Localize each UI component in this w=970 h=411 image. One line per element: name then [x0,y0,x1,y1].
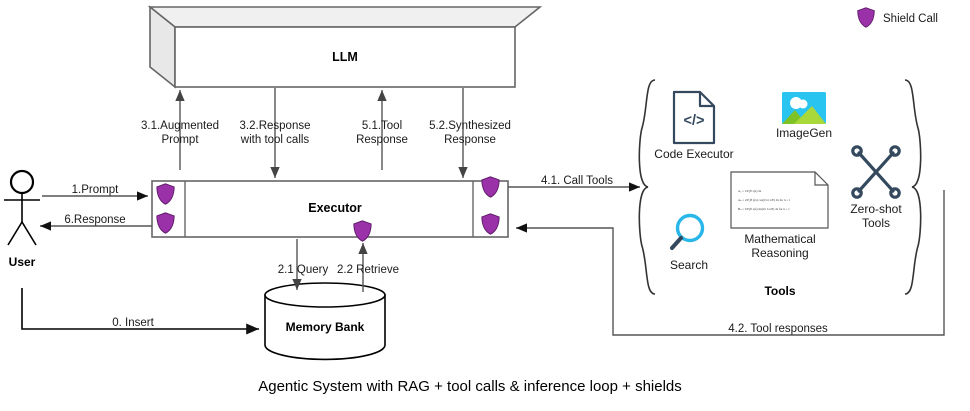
edge-response-label: 6.Response [64,214,125,226]
math-formula-0: A₀ = 1/P ∫P s(x) dx [738,189,762,193]
edge-retrieve-label: 2.2 Retrieve [337,264,399,276]
tool-search-label: Search [670,258,708,272]
tool-imagegen-label: ImageGen [776,126,832,140]
edge-synthesized-response-l1: 5.2.Synthesized [429,120,511,132]
tools-brace-left [639,80,655,294]
tool-math-label-l1: Mathematical [744,232,815,246]
tool-zero-shot[interactable]: Zero-shot Tools [850,147,902,230]
tool-mathematical-reasoning[interactable]: A₀ = 1/P ∫P s(x) dx Aₙ = 2/P ∫P s(x) cos… [731,172,828,260]
user-head [11,171,33,193]
agentic-system-diagram: LLM Executor User Memory Bank 1.Prompt 6… [0,0,970,411]
edge-prompt-label: 1.Prompt [72,184,119,196]
crossed-wrenches-icon [853,147,899,197]
edge-insert-label: 0. Insert [112,317,154,329]
diagram-canvas: LLM Executor User Memory Bank 1.Prompt 6… [0,0,970,411]
tool-code-executor-label: Code Executor [654,147,733,161]
tool-zero-shot-label-l1: Zero-shot [850,202,902,216]
diagram-caption: Agentic System with RAG + tool calls & i… [258,378,682,395]
math-formula-2: Bₙ = 2/P ∫P s(x) sin(2π n x/P) dx for n … [738,207,790,211]
edge-query-label: 2.1 Query [278,264,329,276]
tools-group-label: Tools [764,284,795,298]
user-label: User [9,255,36,269]
code-glyph: </> [684,113,705,129]
edge-synthesized-response-l2: Response [444,134,496,146]
tool-zero-shot-label-l2: Tools [862,216,890,230]
edge-tool-responses-label: 4.2. Tool responses [728,323,828,335]
edge-response-tool-calls-l2: with tool calls [240,134,310,146]
memory-bank-top [265,283,385,307]
shield-icon-executor-memory [354,221,371,241]
llm-box-top [150,7,540,27]
legend-shield-call: Shield Call [858,8,938,28]
legend-label: Shield Call [883,13,938,25]
user-actor[interactable]: User [4,171,40,269]
edge-call-tools-label: 4.1. Call Tools [541,175,613,187]
tool-math-label-l2: Reasoning [751,246,808,260]
image-icon-cloud-base [791,103,804,107]
magnifier-handle [672,238,681,248]
edge-tool-response-l1: 5.1.Tool [362,120,402,132]
tool-search[interactable]: Search [670,216,708,273]
user-leg-right [22,222,36,245]
edge-response-tool-calls-l1: 3.2.Response [240,120,311,132]
shield-icon-legend [858,8,875,28]
tools-brace-right [905,80,921,294]
memory-bank-node[interactable]: Memory Bank [265,283,385,359]
tool-imagegen[interactable]: ImageGen [776,92,832,140]
user-leg-left [8,222,22,245]
edge-augmented-prompt-l2: Prompt [161,134,199,146]
executor-label: Executor [308,201,362,215]
executor-node[interactable]: Executor [152,181,508,237]
llm-label: LLM [332,50,358,64]
edge-augmented-prompt-l1: 3.1.Augmented [141,120,219,132]
math-formula-1: Aₙ = 2/P ∫P s(x) cos(2π n x/P) dx for n … [738,198,791,202]
llm-node[interactable]: LLM [150,7,540,87]
memory-bank-label: Memory Bank [286,320,365,334]
edge-tool-response-l2: Response [356,134,408,146]
tool-code-executor[interactable]: </> Code Executor [654,92,733,161]
